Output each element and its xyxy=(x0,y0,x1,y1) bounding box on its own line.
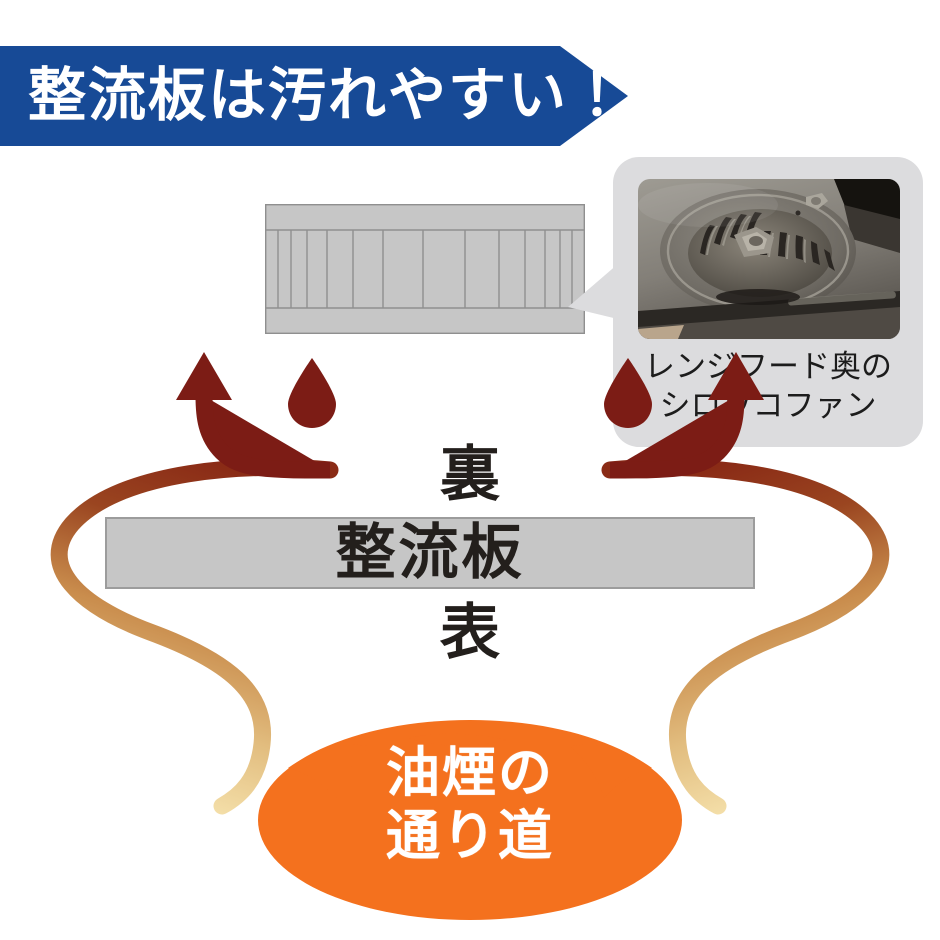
bubble-text-line2: 通り道 xyxy=(258,805,682,868)
rectifier-plate-label: 整流板 xyxy=(336,523,525,583)
grease-droplet-left xyxy=(288,358,336,428)
suction-arrow-right-head xyxy=(708,352,764,400)
infographic-canvas: 整流板は汚れやすい！ xyxy=(0,0,940,940)
label-front-side: 表 xyxy=(0,603,940,663)
label-back-side: 裏 xyxy=(0,445,940,505)
oil-smoke-path-bubble: 油煙の 通り道 xyxy=(258,690,682,920)
bubble-text: 油煙の 通り道 xyxy=(258,742,682,868)
suction-arrow-left-head xyxy=(176,352,232,400)
grease-droplet-right xyxy=(604,358,652,428)
rectifier-plate: 整流板 xyxy=(105,517,755,589)
bubble-text-line1: 油煙の xyxy=(258,742,682,805)
